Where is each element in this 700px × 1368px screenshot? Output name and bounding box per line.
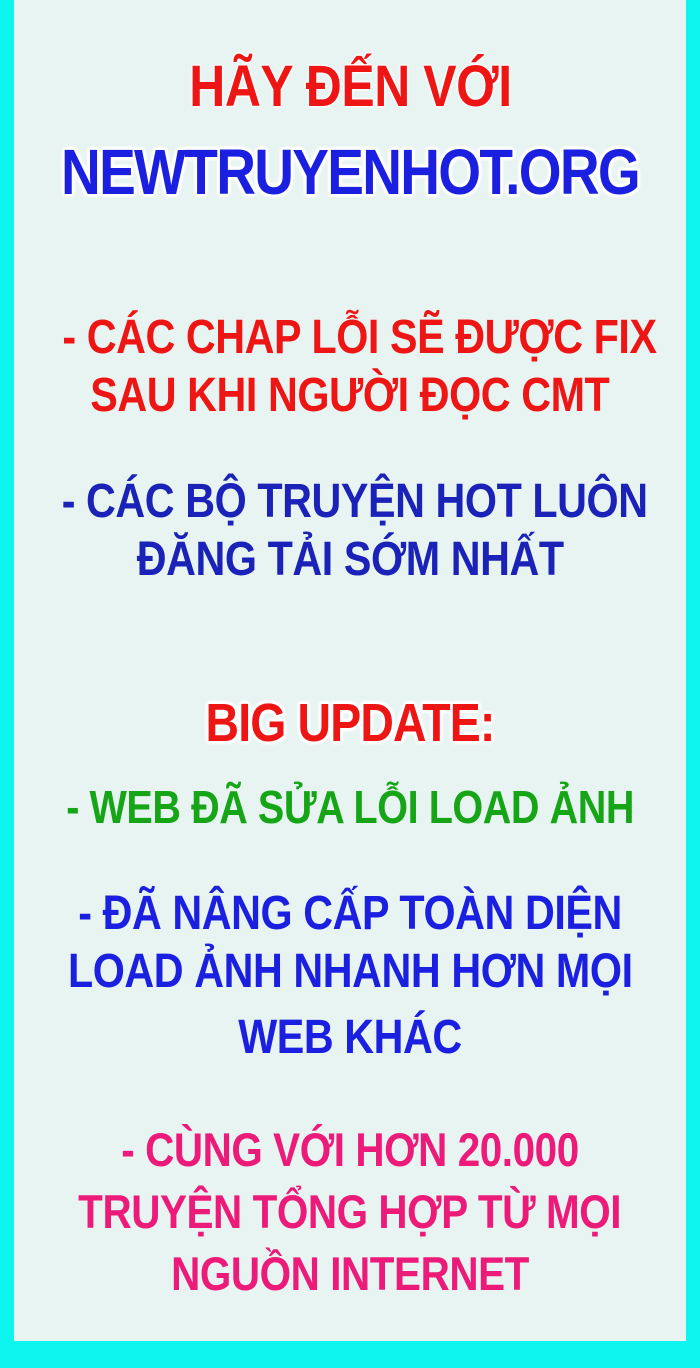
update-item-upgrade-line-3: WEB KHÁC — [14, 1014, 686, 1062]
notice-hot-line-1: - CÁC BỘ TRUYỆN HOT LUÔN — [14, 478, 686, 526]
update-item-catalog-line-2: TRUYỆN TỔNG HỢP TỪ MỌI — [14, 1188, 686, 1235]
update-item-image-fix-text: - WEB ĐÃ SỬA LỖI LOAD ẢNH — [66, 784, 634, 830]
update-item-catalog-line-1-text: - CÙNG VỚI HƠN 20.000 — [121, 1126, 579, 1173]
notice-hot-line-2-text: ĐĂNG TẢI SỚM NHẤT — [137, 536, 564, 584]
notice-fix-line-2: SAU KHI NGƯỜI ĐỌC CMT — [14, 372, 686, 420]
notice-fix-line-1: - CÁC CHAP LỖI SẼ ĐƯỢC FIX — [14, 314, 686, 362]
update-item-upgrade-line-2: LOAD ẢNH NHANH HƠN MỌI — [14, 948, 686, 996]
notice-hot-line-1-text: - CÁC BỘ TRUYỆN HOT LUÔN — [62, 478, 648, 526]
site-name[interactable]: NEWTRUYENHOT.ORG — [14, 140, 686, 204]
notice-hot-line-2: ĐĂNG TẢI SỚM NHẤT — [14, 536, 686, 584]
update-item-catalog-line-1: - CÙNG VỚI HƠN 20.000 — [14, 1126, 686, 1173]
headline-invitation-text: HÃY ĐẾN VỚI — [189, 58, 511, 116]
notice-fix-line-2-text: SAU KHI NGƯỜI ĐỌC CMT — [90, 372, 609, 420]
update-item-catalog-line-3-text: NGUỒN INTERNET — [171, 1250, 529, 1297]
update-item-catalog-line-3: NGUỒN INTERNET — [14, 1250, 686, 1297]
big-update-heading-text: BIG UPDATE: — [206, 696, 495, 750]
frame-border-right — [686, 0, 700, 1341]
frame-border-bottom — [0, 1341, 700, 1368]
banner-content-area: HÃY ĐẾN VỚI NEWTRUYENHOT.ORG - CÁC CHAP … — [14, 0, 686, 1341]
update-item-upgrade-line-1-text: - ĐÃ NÂNG CẤP TOÀN DIỆN — [78, 890, 622, 938]
update-item-upgrade-line-3-text: WEB KHÁC — [238, 1014, 462, 1062]
promo-banner: HÃY ĐẾN VỚI NEWTRUYENHOT.ORG - CÁC CHAP … — [0, 0, 700, 1368]
update-item-catalog-line-2-text: TRUYỆN TỔNG HỢP TỪ MỌI — [79, 1188, 622, 1235]
frame-border-left — [0, 0, 14, 1341]
update-item-upgrade-line-2-text: LOAD ẢNH NHANH HƠN MỌI — [68, 948, 633, 996]
notice-fix-line-1-text: - CÁC CHAP LỖI SẼ ĐƯỢC FIX — [62, 314, 656, 362]
site-name-text: NEWTRUYENHOT.ORG — [61, 140, 639, 204]
headline-invitation: HÃY ĐẾN VỚI — [14, 58, 686, 116]
update-item-upgrade-line-1: - ĐÃ NÂNG CẤP TOÀN DIỆN — [14, 890, 686, 938]
update-item-image-fix: - WEB ĐÃ SỬA LỖI LOAD ẢNH — [14, 784, 686, 830]
big-update-heading: BIG UPDATE: — [14, 696, 686, 750]
